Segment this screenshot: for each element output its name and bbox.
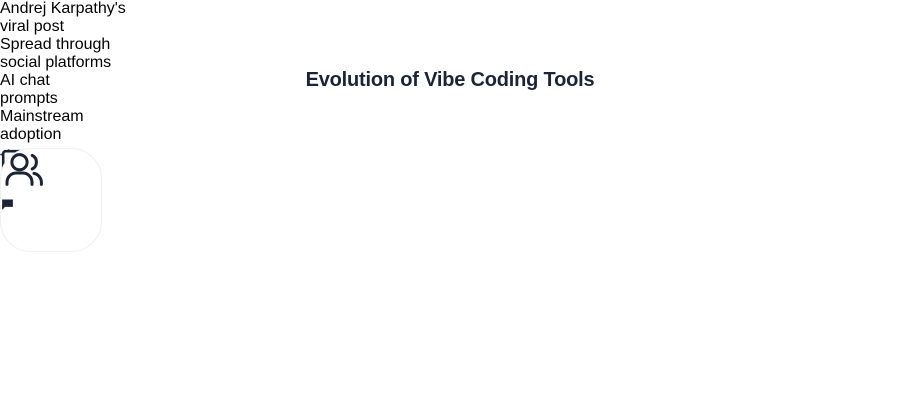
flow-label-4-primary: Mainstream (0, 108, 900, 126)
users-icon (1, 180, 53, 197)
flow-label-3-secondary: prompts (0, 90, 900, 108)
flow-label-1-primary: Andrej Karpathy's (0, 0, 900, 18)
flow-label-1: Andrej Karpathy's viral post (0, 0, 900, 36)
page-title: Evolution of Vibe Coding Tools (0, 69, 900, 92)
card-4-content (1, 149, 101, 198)
flow-step-card-4[interactable] (0, 148, 102, 252)
flow-label-4-secondary: adoption (0, 126, 900, 144)
infographic-canvas: Evolution of Vibe Coding Tools (0, 0, 900, 407)
flow-label-4: Mainstream adoption (0, 108, 900, 144)
flow-label-2: Spread through social platforms (0, 36, 900, 72)
chat-bubble-badge-icon (1, 198, 14, 215)
flow-diagram (0, 148, 900, 252)
flow-label-1-secondary: viral post (0, 18, 900, 36)
flow-label-2-primary: Spread through (0, 36, 900, 54)
connector-2 (0, 148, 900, 166)
